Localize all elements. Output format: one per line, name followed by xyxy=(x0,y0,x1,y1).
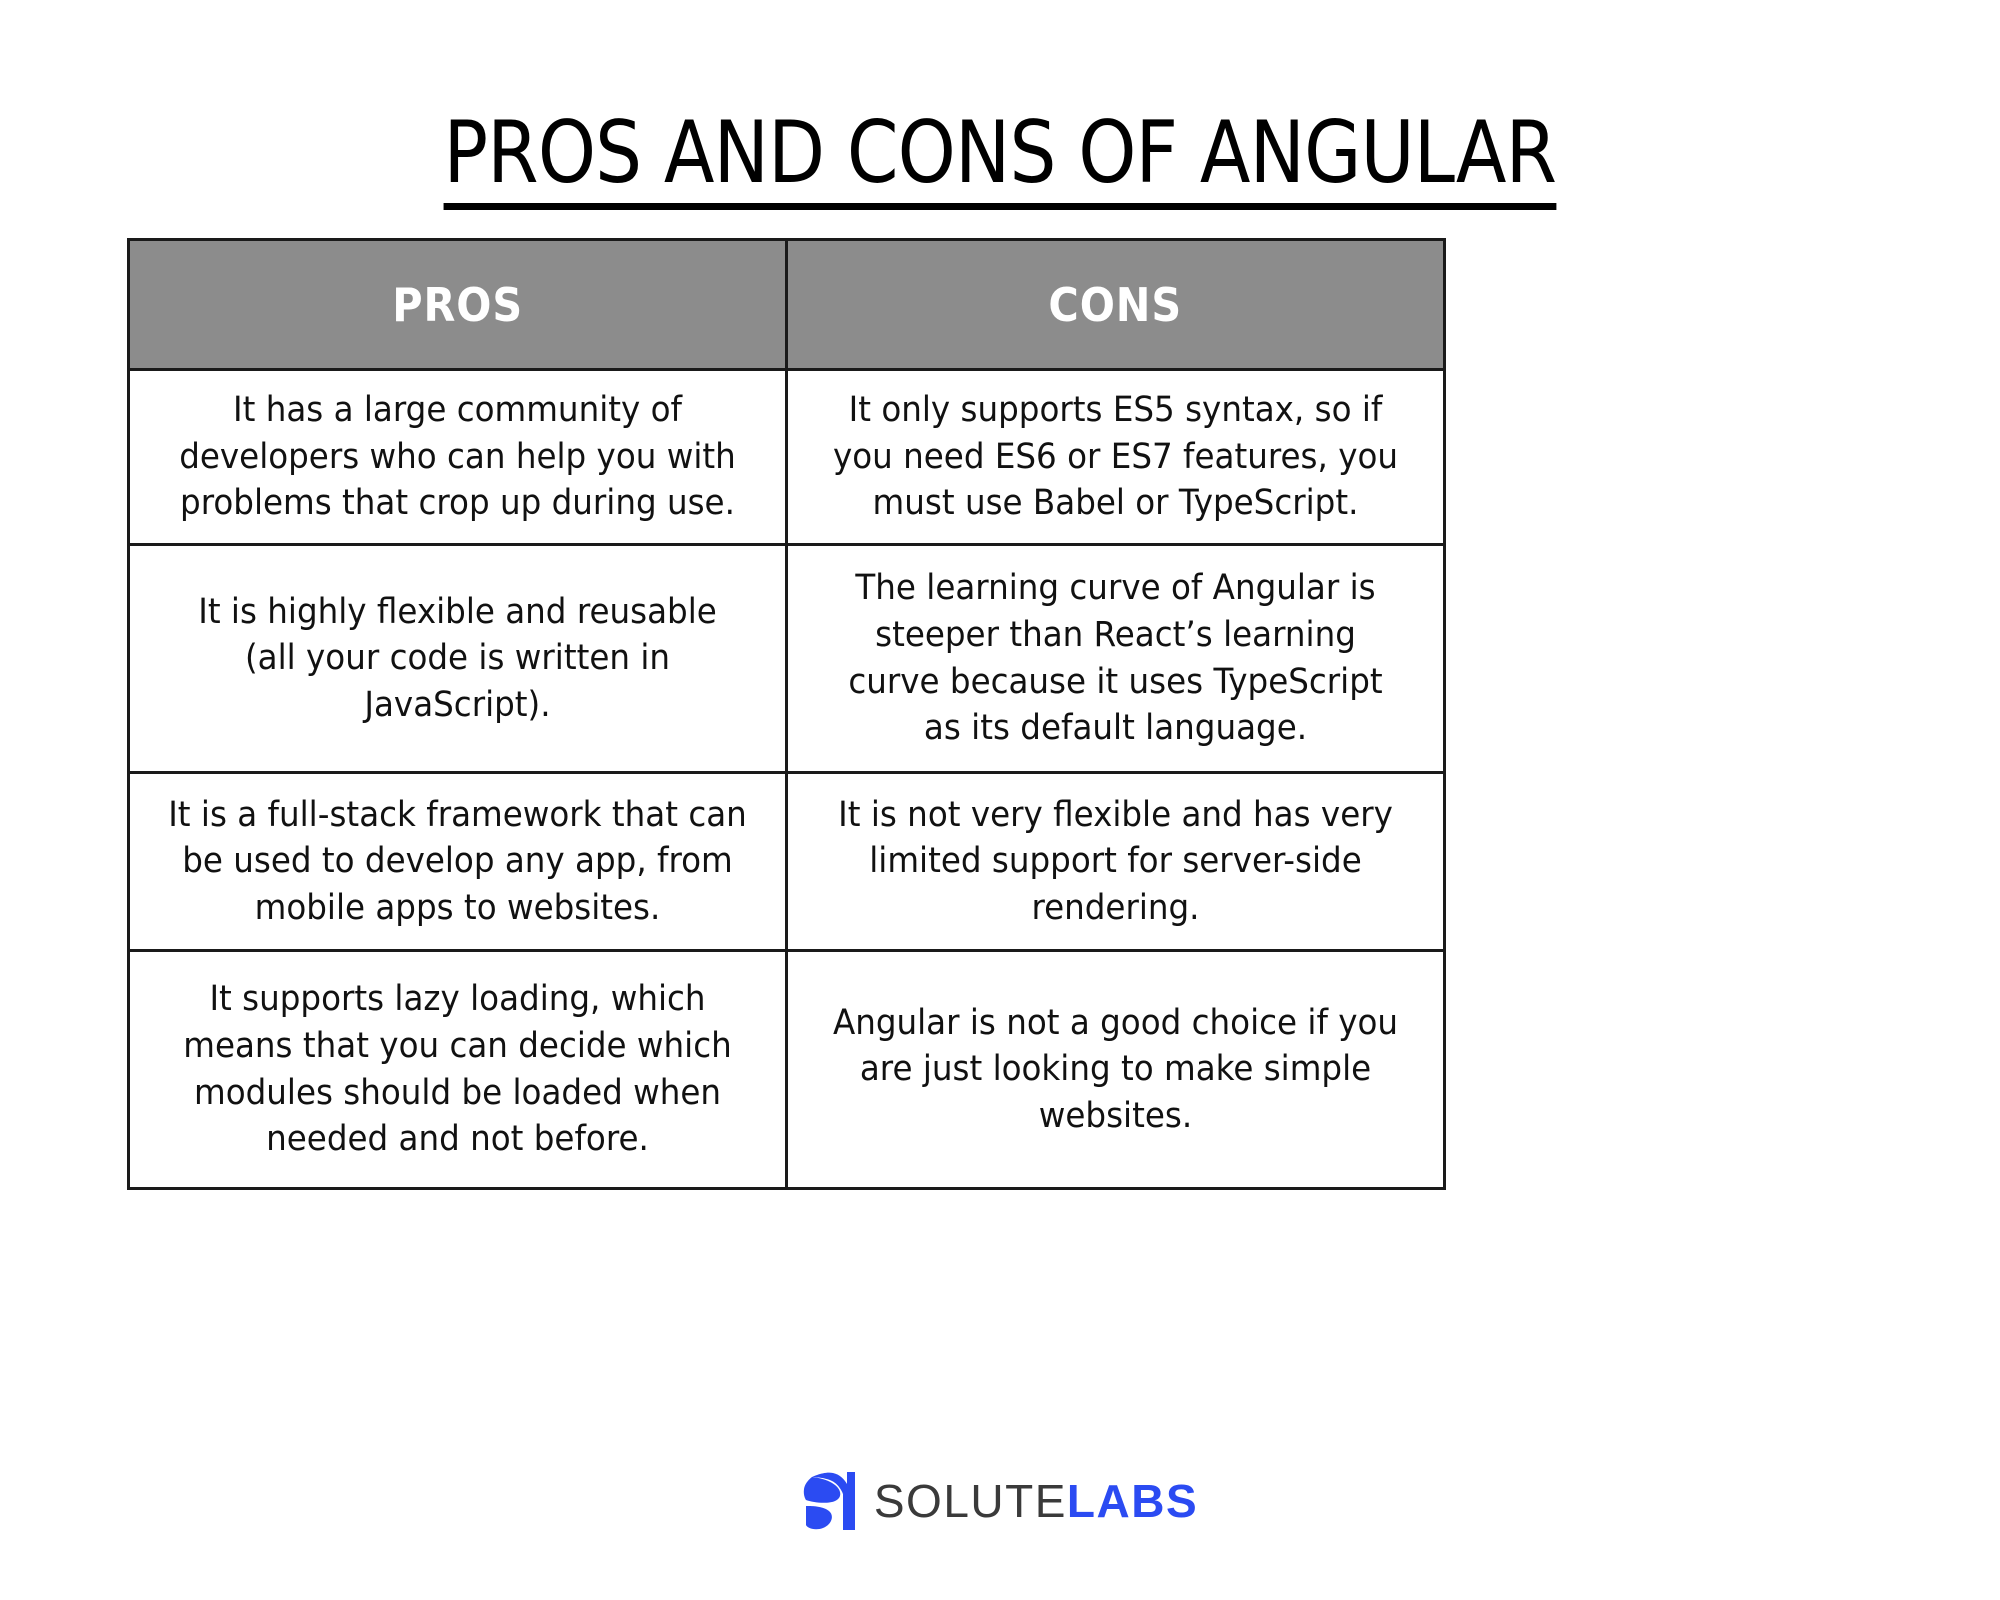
column-header-pros: PROS xyxy=(129,240,787,370)
table-row: It is highly flexible and reusable (all … xyxy=(129,545,1445,773)
column-header-cons: CONS xyxy=(787,240,1445,370)
column-header-pros-label: PROS xyxy=(392,278,523,332)
page-title: PROS AND CONS OF ANGULAR xyxy=(444,110,1557,211)
brand-logo: SOLUTELABS xyxy=(0,1470,2000,1532)
brand-logo-primary: SOLUTE xyxy=(874,1475,1067,1527)
cell-cons-3: It is not very flexible and has very lim… xyxy=(787,773,1445,951)
table-row: It supports lazy loading, which means th… xyxy=(129,951,1445,1189)
cell-pros-1: It has a large community of developers w… xyxy=(129,370,787,545)
table-row: It is a full-stack framework that can be… xyxy=(129,773,1445,951)
cell-cons-2-text: The learning curve of Angular is steeper… xyxy=(826,565,1405,751)
cell-cons-1-text: It only supports ES5 syntax, so if you n… xyxy=(826,387,1405,527)
column-header-cons-label: CONS xyxy=(1049,278,1183,332)
cell-pros-4-text: It supports lazy loading, which means th… xyxy=(168,976,747,1162)
cell-pros-2: It is highly flexible and reusable (all … xyxy=(129,545,787,773)
table-header: PROS CONS xyxy=(129,240,1445,370)
page-title-container: PROS AND CONS OF ANGULAR xyxy=(0,52,2000,268)
table-body: It has a large community of developers w… xyxy=(129,370,1445,1189)
cell-pros-3-text: It is a full-stack framework that can be… xyxy=(168,792,747,932)
table-header-row: PROS CONS xyxy=(129,240,1445,370)
brand-logo-accent: LABS xyxy=(1067,1475,1198,1527)
infographic-page: PROS AND CONS OF ANGULAR PROS CONS It ha… xyxy=(0,0,2000,1600)
cell-cons-4: Angular is not a good choice if you are … xyxy=(787,951,1445,1189)
brand-logo-text: SOLUTELABS xyxy=(874,1478,1198,1524)
cell-pros-2-text: It is highly flexible and reusable (all … xyxy=(168,589,747,729)
cell-pros-4: It supports lazy loading, which means th… xyxy=(129,951,787,1189)
table-row: It has a large community of developers w… xyxy=(129,370,1445,545)
cell-cons-3-text: It is not very flexible and has very lim… xyxy=(826,792,1405,932)
cell-pros-3: It is a full-stack framework that can be… xyxy=(129,773,787,951)
cell-cons-1: It only supports ES5 syntax, so if you n… xyxy=(787,370,1445,545)
pros-cons-table: PROS CONS It has a large community of de… xyxy=(127,238,1446,1190)
cell-cons-2: The learning curve of Angular is steeper… xyxy=(787,545,1445,773)
solutelabs-s-mark-icon xyxy=(802,1470,856,1532)
cell-cons-4-text: Angular is not a good choice if you are … xyxy=(826,1000,1405,1140)
cell-pros-1-text: It has a large community of developers w… xyxy=(168,387,747,527)
